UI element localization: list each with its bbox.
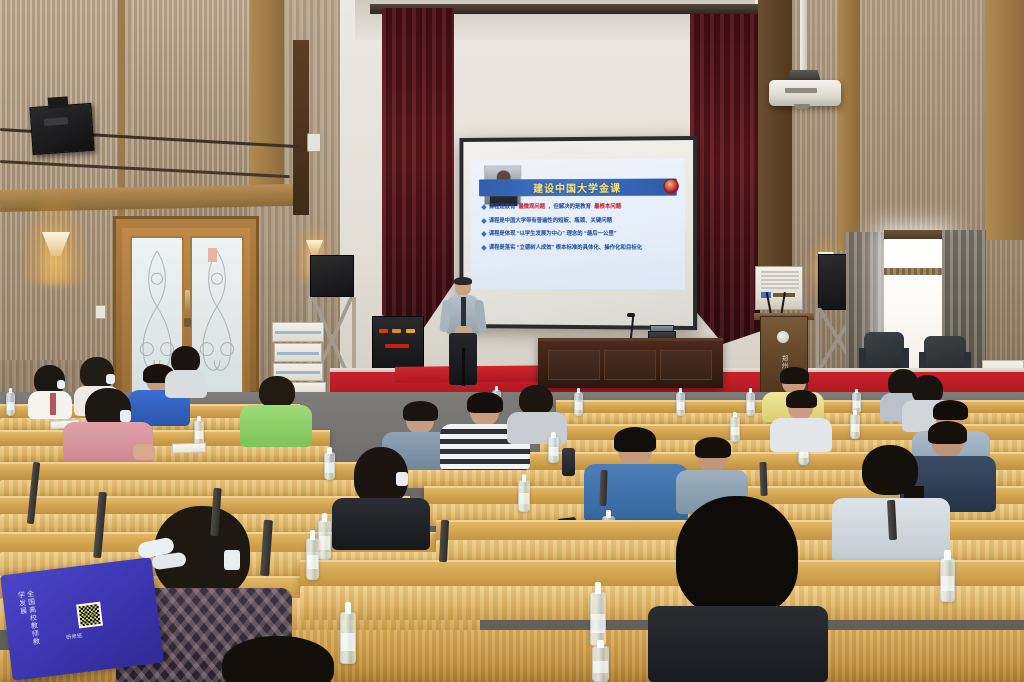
desk-leg <box>759 462 767 496</box>
torso <box>332 498 430 550</box>
hair <box>403 401 438 421</box>
bullet-diamond-icon-4 <box>481 245 487 251</box>
hair <box>519 385 553 415</box>
audience-person-17 <box>630 496 842 682</box>
audience-person-19 <box>202 636 352 682</box>
qr-code-icon <box>76 602 103 629</box>
presentation-slide: 建设中国大学金课 课程是教育 最微观问题 ，但解决的是教育 最根本问题 课程是中… <box>471 158 685 289</box>
water-bottle <box>574 392 583 416</box>
face-mask-icon <box>57 380 65 389</box>
slide-bullet-3: 课程是体现 “以学生发展为中心” 理念的 “最后一公里” <box>482 230 677 238</box>
bullet-1-seg-4: 最根本问题 <box>594 203 621 211</box>
rack-led-3 <box>406 329 415 333</box>
bottle-label <box>307 555 318 569</box>
wall-air-conditioner <box>755 266 803 310</box>
audience-person-16 <box>330 452 434 550</box>
bottle-label <box>7 402 14 410</box>
water-bottle <box>940 558 955 602</box>
bullet-diamond-icon-3 <box>481 232 487 238</box>
projector-pole <box>800 0 807 76</box>
desk-panel-2 <box>604 350 656 380</box>
projector-label <box>785 88 817 93</box>
bottle-label <box>851 424 859 432</box>
presenter-hair <box>454 277 472 285</box>
face-mask-icon <box>396 472 408 486</box>
audience-person-15b <box>770 394 832 452</box>
water-bottle <box>548 436 559 463</box>
bullet-4-text: 课程是落实 “立德树人成效” 根本标准的具体化、操作化和目标化 <box>489 244 642 252</box>
lecture-hall-photo: 建设中国大学金课 课程是教育 最微观问题 ，但解决的是教育 最根本问题 课程是中… <box>0 0 1024 682</box>
right-wall-beam <box>838 0 860 250</box>
panel-desk <box>538 338 723 388</box>
notebook <box>172 442 206 453</box>
slide-bullet-4: 课程是落实 “立德树人成效” 根本标准的具体化、操作化和目标化 <box>482 244 677 252</box>
box-tape-3 <box>276 371 320 374</box>
rack-led-bar <box>385 344 409 348</box>
bottle-label <box>549 447 558 456</box>
water-bottle <box>340 612 356 664</box>
hair <box>467 392 503 413</box>
box-tape-2 <box>277 352 319 355</box>
bottle-label <box>519 493 529 504</box>
water-bottle <box>590 592 606 646</box>
right-wall-beam-2 <box>985 0 1024 240</box>
water-bottle <box>306 538 319 580</box>
screen-surface: 建设中国大学金课 课程是教育 最微观问题 ，但解决的是教育 最根本问题 课程是中… <box>463 140 693 326</box>
slide-title-bar: 建设中国大学金课 <box>479 178 677 196</box>
hair <box>786 390 817 408</box>
wall-panel-left-a <box>0 0 125 360</box>
bottle-label <box>747 402 754 410</box>
water-bottle <box>850 414 860 439</box>
speaker-bracket <box>48 96 69 108</box>
bullet-1-seg-1: 课程是教育 <box>489 203 516 211</box>
hair <box>259 376 295 408</box>
light-switch-icon[interactable] <box>95 305 106 319</box>
torso <box>770 418 832 452</box>
face-mask-icon <box>224 550 240 570</box>
water-bottle <box>6 392 15 416</box>
door-tag <box>208 248 217 262</box>
wall-strip-dark <box>293 40 309 215</box>
wall-beam-vertical <box>250 0 284 200</box>
forearm <box>133 444 155 460</box>
tote-bag-text: 全国高校教师教学发展 <box>18 590 41 652</box>
bullet-2-text: 课程是中国大学带有普遍性的短板、瓶颈、关键问题 <box>489 217 612 225</box>
hair <box>780 367 809 384</box>
slide-title: 建设中国大学金课 <box>479 178 677 196</box>
rack-led-2 <box>392 329 401 333</box>
torso <box>648 606 828 682</box>
bottle-label <box>591 614 605 633</box>
presenter <box>440 278 486 388</box>
desk-leg <box>599 470 607 506</box>
hair <box>80 357 114 389</box>
bottle-label <box>575 402 582 410</box>
projector-lens-icon <box>794 104 810 109</box>
desk-panel-1 <box>548 350 600 380</box>
presenter-leg-split <box>462 348 465 386</box>
face-mask-icon <box>106 374 115 384</box>
hair <box>222 636 334 682</box>
bottle-label <box>341 633 355 651</box>
hair <box>676 496 798 616</box>
bottle-label <box>941 576 954 591</box>
bullet-1-seg-3: ，但解决的是教育 <box>548 203 591 211</box>
slide-bullet-list: 课程是教育 最微观问题 ，但解决的是教育 最根本问题 课程是中国大学带有普遍性的… <box>482 203 677 258</box>
hair <box>695 437 731 458</box>
door-handle-icon[interactable] <box>185 290 190 310</box>
stage-curtain-right <box>690 14 762 344</box>
water-bottle <box>746 392 755 416</box>
bullet-diamond-icon-2 <box>481 218 487 224</box>
projection-screen: 建设中国大学金课 课程是教育 最微观问题 ，但解决的是教育 最根本问题 课程是中… <box>459 136 697 330</box>
hair <box>933 400 968 420</box>
bottle-label <box>853 401 860 408</box>
right-wall-dark-strip <box>758 0 792 270</box>
bottle-label <box>731 427 739 436</box>
box-1 <box>272 322 324 342</box>
slide-bullet-2: 课程是中国大学带有普遍性的短板、瓶颈、关键问题 <box>482 217 677 225</box>
bullet-1-seg-2: 最微观问题 <box>518 203 545 211</box>
window-valance <box>884 230 944 239</box>
microphone-head-icon <box>627 313 635 317</box>
bench-row-3-left <box>0 462 360 482</box>
torso <box>240 405 312 447</box>
wall-mounted-pa-speaker <box>29 103 94 155</box>
window-mullion <box>884 268 944 275</box>
box-tape-1 <box>275 331 321 334</box>
hair <box>928 421 967 444</box>
desk-row-2-left <box>0 446 330 462</box>
ceiling-mounted-projector <box>769 80 841 106</box>
ac-grill <box>761 271 799 289</box>
slide-bullet-1: 课程是教育 最微观问题 ，但解决的是教育 最根本问题 <box>482 203 677 212</box>
audience-person-5 <box>240 380 312 446</box>
box-2 <box>274 343 322 362</box>
desk-panel-3 <box>660 350 712 380</box>
water-bottle <box>592 646 609 682</box>
rack-led-1 <box>379 329 388 333</box>
wall-sensor-icon <box>307 133 321 152</box>
tote-bag-subtext: 研修班 <box>66 628 114 641</box>
audience-person-9 <box>506 388 568 444</box>
door-lock-icon[interactable] <box>184 318 191 327</box>
conference-tote-bag: 全国高校教师教学发展 研修班 <box>0 557 164 681</box>
hair <box>614 427 656 452</box>
bottle-label <box>677 402 684 410</box>
bottle-label <box>319 536 330 550</box>
thermos-flask <box>562 448 575 476</box>
bullet-diamond-icon <box>481 204 487 210</box>
face-mask-icon <box>120 410 131 422</box>
university-emblem-icon <box>664 178 679 193</box>
water-bottle <box>518 480 530 512</box>
presenter-tie <box>461 297 466 328</box>
strap <box>50 393 56 415</box>
university-seal-icon <box>776 330 790 344</box>
water-bottle <box>730 416 740 442</box>
bullet-3-text: 课程是体现 “以学生发展为中心” 理念的 “最后一公里” <box>489 230 617 238</box>
bottle-label <box>593 661 608 673</box>
torso <box>165 370 207 398</box>
bottle-label <box>195 431 203 440</box>
audience-person-4 <box>163 348 209 398</box>
water-bottle <box>318 520 331 560</box>
hair <box>171 346 200 373</box>
water-bottle <box>676 392 685 416</box>
stage-pa-speaker <box>310 255 354 297</box>
